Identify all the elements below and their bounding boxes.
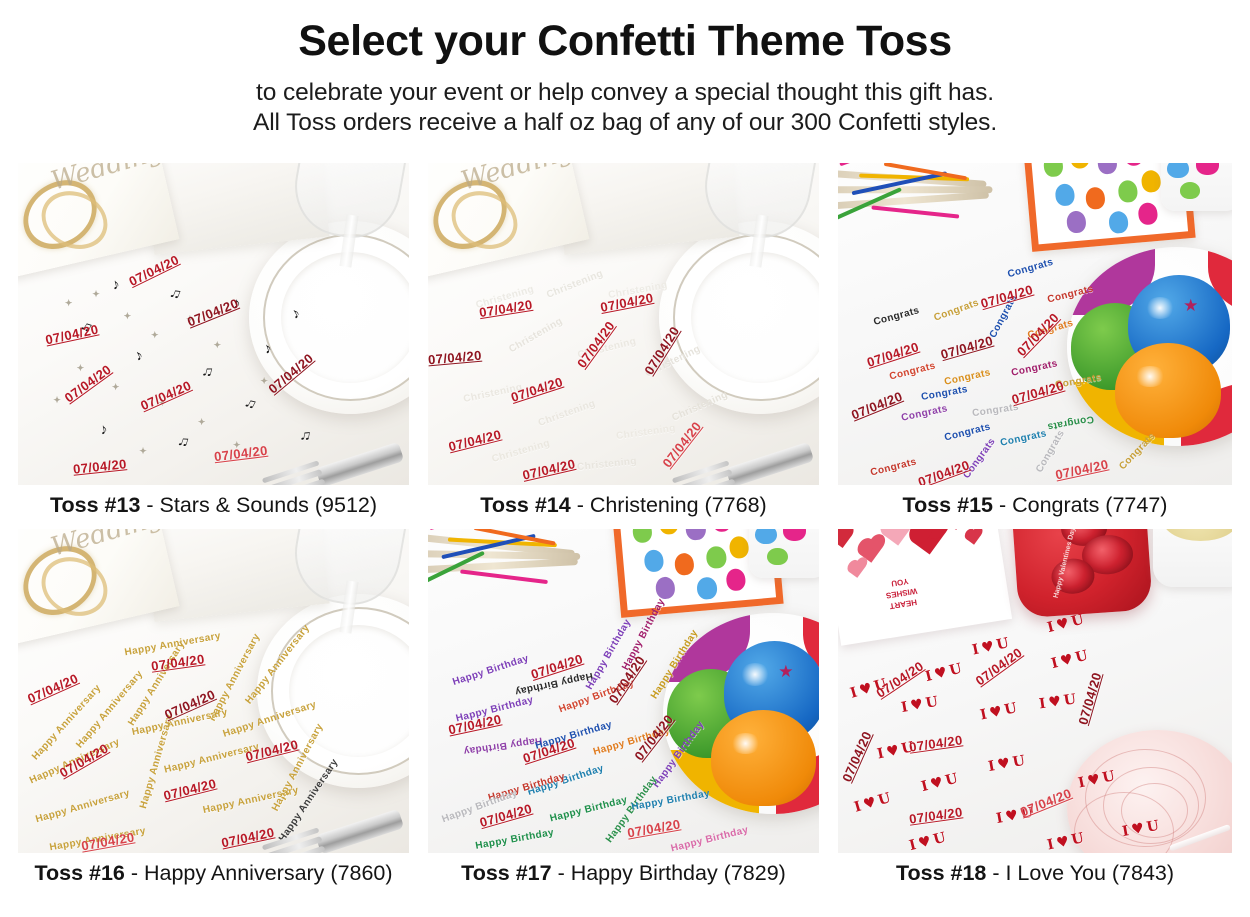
card-greeting-text: HEARTWISHESYOU: [884, 575, 920, 613]
product-index-label: Toss #16: [34, 861, 124, 885]
star-confetti: ✦: [139, 446, 147, 457]
napkin-balloon: [1043, 163, 1064, 177]
product-cell-toss-18[interactable]: HEARTWISHESYOU Happy Valentines Day: [838, 529, 1232, 897]
party-cup: [749, 529, 819, 578]
napkin-balloon: [658, 529, 679, 535]
product-name-label: - Happy Birthday (7829): [552, 861, 786, 885]
napkin-balloon: [685, 529, 706, 541]
music-note-confetti: ♫: [298, 426, 312, 445]
star-decoration: ★: [778, 663, 793, 680]
product-photo-toss-17[interactable]: ★: [428, 529, 819, 853]
heart-icon: [946, 529, 965, 530]
product-index-label: Toss #15: [903, 493, 993, 517]
streamer: [871, 205, 959, 218]
party-cup: [1161, 163, 1232, 211]
napkin-balloon: [728, 535, 749, 559]
product-name-label: - Christening (7768): [571, 493, 767, 517]
star-confetti: ✦: [65, 298, 73, 309]
balloon-highlight: [1145, 297, 1175, 319]
product-cell-toss-15[interactable]: ★: [838, 163, 1232, 529]
napkin-balloon: [1097, 163, 1118, 175]
product-cell-toss-13[interactable]: Wedding ♪ ♫ ♪ ♫ ♪ ♫ ♪ ♫ ♪ ♫ ♪ ♫ ✦ ✦ ✦ ✦ …: [18, 163, 409, 529]
cup-balloon: [1167, 163, 1189, 178]
cup-balloon: [767, 548, 787, 565]
napkin-balloon: [1123, 163, 1144, 166]
product-caption-toss-14: Toss #14 - Christening (7768): [428, 485, 819, 529]
star-confetti: ✦: [198, 417, 206, 428]
mug-contents: [1163, 529, 1232, 541]
confetti-theme-grid: Wedding ♪ ♫ ♪ ♫ ♪ ♫ ♪ ♫ ♪ ♫ ♪ ♫ ✦ ✦ ✦ ✦ …: [18, 163, 1232, 897]
napkin-balloon: [1066, 210, 1087, 234]
star-confetti: ✦: [77, 363, 85, 374]
star-confetti: ✦: [112, 382, 120, 393]
subtitle-line-2: All Toss orders receive a half oz bag of…: [0, 108, 1250, 138]
product-name-label: - I Love You (7843): [986, 861, 1174, 885]
page-header: Select your Confetti Theme Toss to celeb…: [0, 0, 1250, 138]
product-name-label: - Congrats (7747): [993, 493, 1167, 517]
star-confetti: ✦: [151, 330, 159, 341]
napkin-balloon: [1117, 179, 1138, 203]
star-confetti: ✦: [53, 395, 61, 406]
star-decoration: ★: [1183, 297, 1198, 314]
napkin-balloon: [711, 529, 732, 532]
heart-icon: [838, 529, 852, 548]
cup-balloon: [755, 529, 777, 544]
printed-mug: [1153, 529, 1232, 587]
star-confetti: ✦: [214, 340, 222, 351]
product-index-label: Toss #14: [480, 493, 570, 517]
product-caption-toss-17: Toss #17 - Happy Birthday (7829): [428, 853, 819, 897]
product-index-label: Toss #17: [461, 861, 551, 885]
product-caption-toss-13: Toss #13 - Stars & Sounds (9512): [18, 485, 409, 529]
product-cell-toss-16[interactable]: Wedding Happy Anniversary Happy Annivers…: [18, 529, 409, 897]
page-title: Select your Confetti Theme Toss: [0, 16, 1250, 66]
product-photo-toss-16[interactable]: Wedding Happy Anniversary Happy Annivers…: [18, 529, 409, 853]
streamer: [461, 569, 548, 584]
product-photo-toss-13[interactable]: Wedding ♪ ♫ ♪ ♫ ♪ ♫ ♪ ♫ ♪ ♫ ♪ ♫ ✦ ✦ ✦ ✦ …: [18, 163, 409, 485]
product-cell-toss-14[interactable]: Wedding Christening Christening Christen…: [428, 163, 819, 529]
page-subtitle: to celebrate your event or help convey a…: [0, 66, 1250, 138]
product-cell-toss-17[interactable]: ★: [428, 529, 819, 897]
napkin-balloon: [631, 529, 652, 543]
cup-balloon: [1196, 163, 1220, 175]
napkin-balloon: [705, 545, 726, 569]
napkin-balloon: [673, 552, 694, 576]
heart-icon: [849, 561, 866, 578]
napkin-balloon: [725, 568, 746, 592]
napkin-balloon: [643, 549, 664, 573]
balloon-highlight: [740, 663, 770, 685]
napkin-balloon: [696, 576, 717, 600]
product-name-label: - Happy Anniversary (7860): [125, 861, 393, 885]
product-index-label: Toss #18: [896, 861, 986, 885]
balloon-orange: [711, 710, 816, 806]
product-photo-toss-15[interactable]: ★: [838, 163, 1232, 485]
plate-well: [691, 252, 819, 383]
napkin-balloon: [1085, 186, 1106, 210]
product-index-label: Toss #13: [50, 493, 140, 517]
subtitle-line-1: to celebrate your event or help convey a…: [0, 78, 1250, 108]
napkin-balloon: [1108, 210, 1129, 234]
napkin-balloon: [1141, 169, 1162, 193]
rose-gift-bag: Happy Valentines Day: [1011, 529, 1153, 618]
balloon-highlight: [1134, 366, 1166, 387]
product-caption-toss-16: Toss #16 - Happy Anniversary (7860): [18, 853, 409, 897]
product-caption-toss-15: Toss #15 - Congrats (7747): [838, 485, 1232, 529]
product-photo-toss-14[interactable]: Wedding Christening Christening Christen…: [428, 163, 819, 485]
product-caption-toss-18: Toss #18 - I Love You (7843): [838, 853, 1232, 897]
balloon-orange: [1115, 343, 1221, 439]
cup-balloon: [1180, 182, 1200, 199]
star-confetti: ✦: [92, 289, 100, 300]
napkin-balloon: [1055, 183, 1076, 207]
heart-icon: [967, 530, 981, 545]
heart-icon: [913, 529, 946, 554]
balloon-highlight: [730, 733, 762, 754]
napkin-balloon: [1137, 202, 1158, 226]
napkin-balloon: [1069, 163, 1090, 169]
star-confetti: ✦: [124, 311, 132, 322]
product-photo-toss-18[interactable]: HEARTWISHESYOU Happy Valentines Day: [838, 529, 1232, 853]
product-name-label: - Stars & Sounds (9512): [140, 493, 377, 517]
cup-balloon: [783, 529, 806, 541]
